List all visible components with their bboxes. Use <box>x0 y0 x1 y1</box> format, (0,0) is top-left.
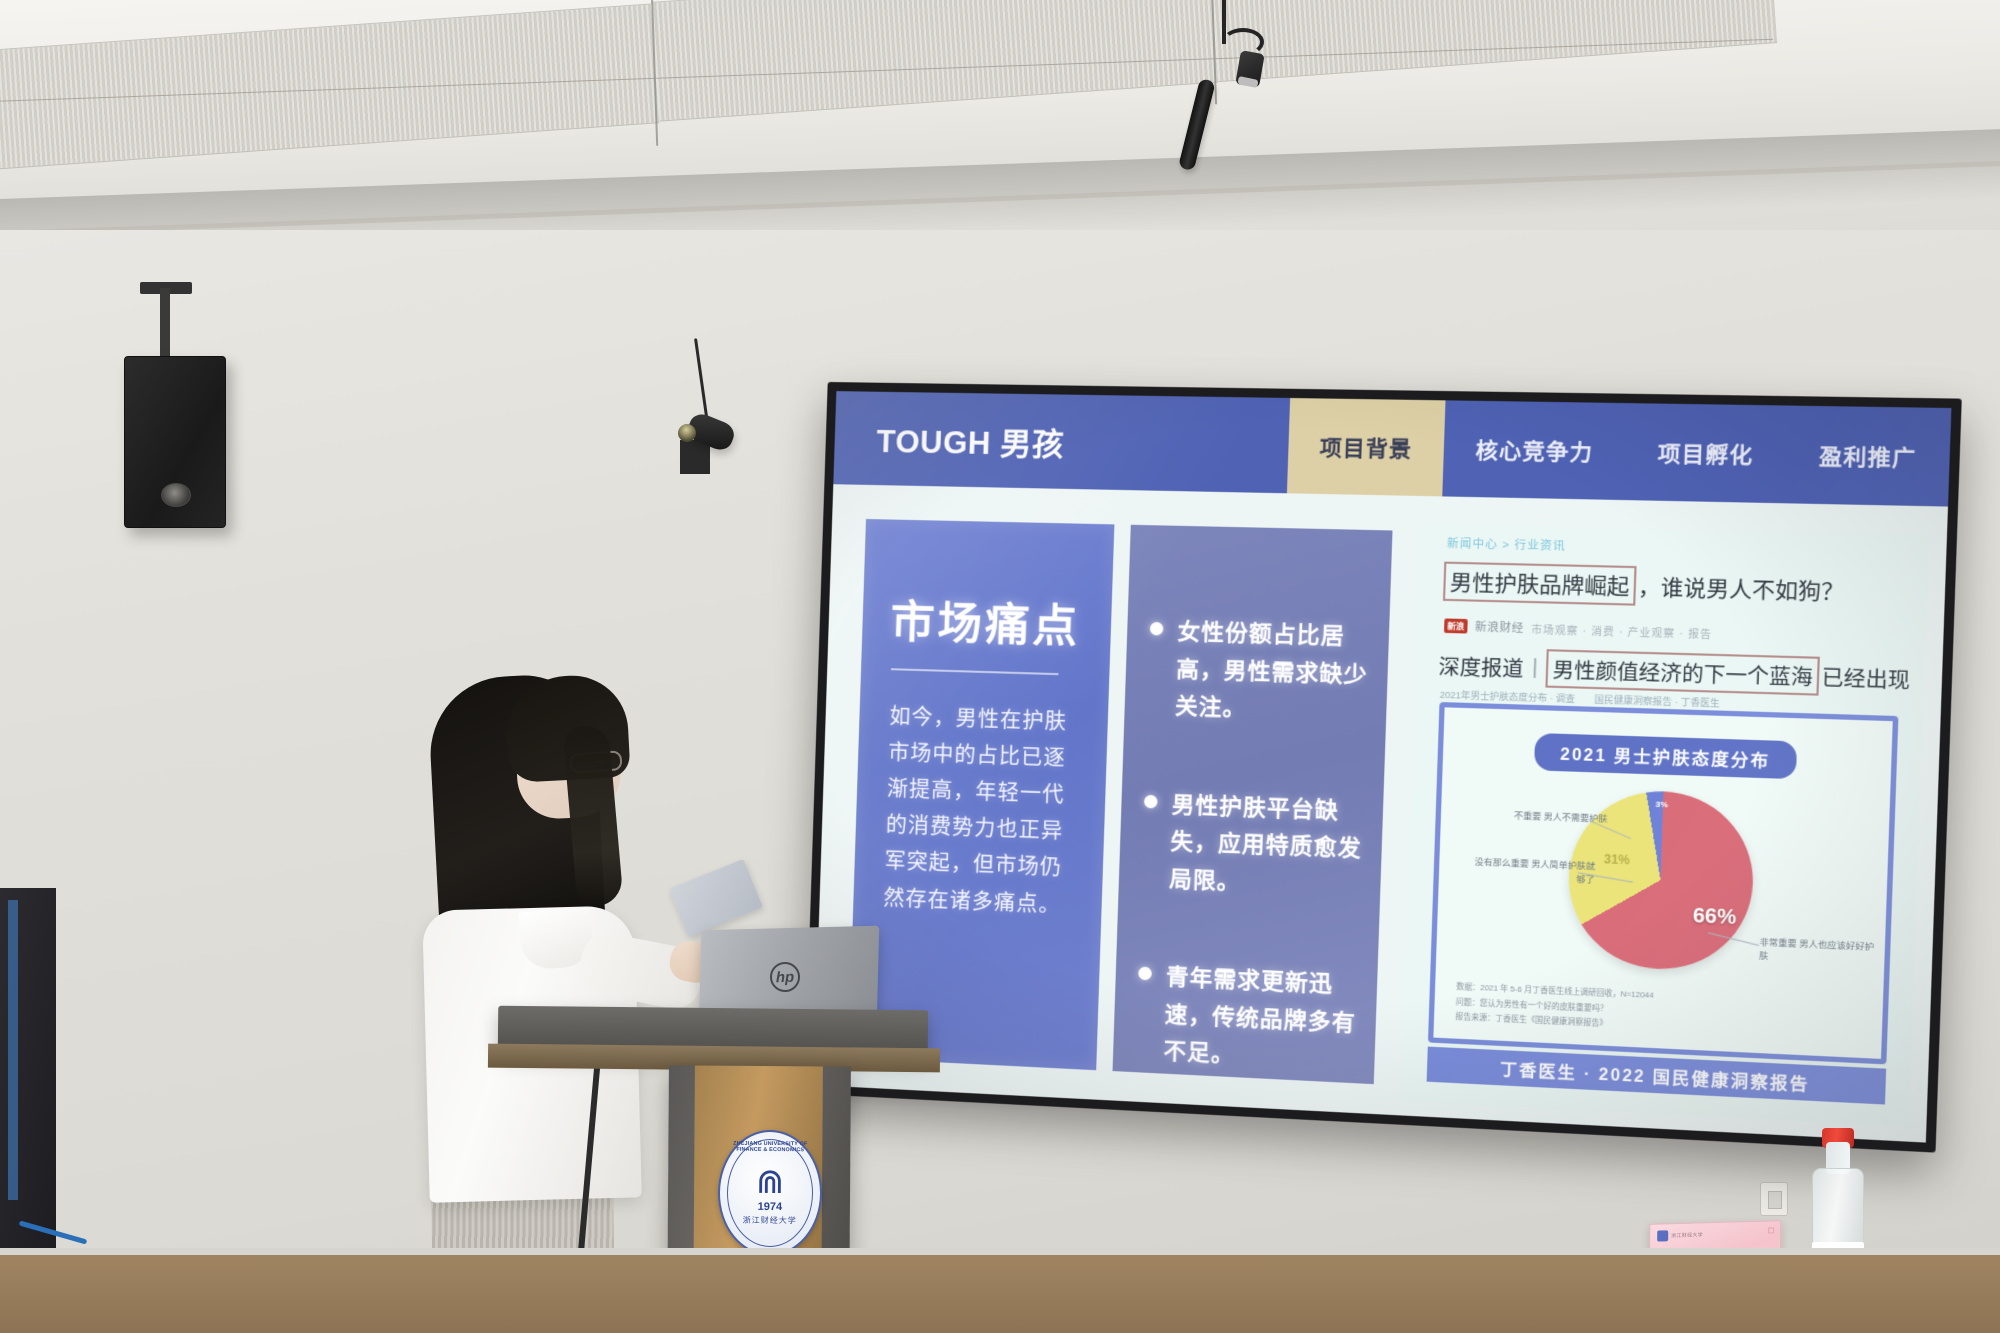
lecture-hall-photo: TOUGH 男孩 项目背景 核心竞争力 项目孵化 盈利推广 市场痛点 如今，男性… <box>0 0 2000 1333</box>
pie-value-label-1: 66% <box>1692 904 1736 930</box>
bullet-text: 青年需求更新迅速，传统品牌多有不足。 <box>1163 959 1365 1080</box>
headline-2-prefix: 深度报道 <box>1438 650 1524 682</box>
wall-outlet[interactable] <box>1760 1182 1788 1216</box>
headline-2-rest: 已经出现 <box>1821 661 1910 694</box>
headline-2-divider: | <box>1532 656 1538 680</box>
news-source-logo-icon: 新浪 <box>1444 618 1468 633</box>
bullet-dot-icon <box>1150 622 1164 636</box>
pie-value-label-2: 31% <box>1604 852 1630 868</box>
news-headline-1: 男性护肤品牌崛起 ，谁说男人不如狗？ <box>1443 562 1845 611</box>
bullet-list: 女性份额占比居高，男性需求缺少关注。 男性护肤平台缺失，应用特质愈发局限。 青年… <box>1133 613 1377 1142</box>
pie-value-label-3: 3% <box>1655 800 1668 810</box>
nav-item-profit-promotion[interactable]: 盈利推广 <box>1785 406 1952 507</box>
headline-1-rest: ，谁说男人不如狗？ <box>1638 570 1845 606</box>
placard-logo-icon <box>1657 1230 1668 1241</box>
pie-annotation-1: 非常重要 男人也应该好好护肤 <box>1759 935 1883 967</box>
panel-pain-point-list: 女性份额占比居高，男性需求缺少关注。 男性护肤平台缺失，应用特质愈发局限。 青年… <box>1113 525 1393 1084</box>
floor <box>0 1255 2000 1333</box>
pie-annotation-2: 没有那么重要 男人简单护肤就够了 <box>1468 855 1595 886</box>
nav-item-project-background[interactable]: 项目背景 <box>1287 398 1446 496</box>
list-item: 女性份额占比居高，男性需求缺少关注。 <box>1147 613 1377 732</box>
placard-org-text: 浙江财经大学 <box>1671 1231 1703 1239</box>
panel-body-text: 如今，男性在护肤市场中的占比已逐渐提高，年轻一代的消费势力也正异军突起，但市场仍… <box>883 698 1072 923</box>
list-item: 男性护肤平台缺失，应用特质愈发局限。 <box>1141 785 1371 906</box>
news-source-name: 新浪财经 <box>1475 618 1525 636</box>
panel-divider <box>891 668 1058 675</box>
placard-logo: 浙江财经大学 <box>1657 1229 1703 1241</box>
slide-nav: 项目背景 核心竞争力 项目孵化 盈利推广 <box>1287 398 1952 507</box>
slide-header: TOUGH 男孩 项目背景 核心竞争力 项目孵化 盈利推广 <box>833 391 1951 506</box>
slide-brand-title: TOUGH 男孩 <box>833 391 1065 489</box>
bullet-text: 男性护肤平台缺失，应用特质愈发局限。 <box>1169 786 1371 906</box>
presentation-slide: TOUGH 男孩 项目背景 核心竞争力 项目孵化 盈利推广 市场痛点 如今，男性… <box>814 391 1952 1142</box>
chart-footnotes: 数据：2021 年 5-6 月丁香医生线上调研回收，N=12044 问题：您认为… <box>1455 980 1654 1033</box>
news-source-tags: 市场观察 · 消费 · 产业观察 · 报告 <box>1531 620 1712 640</box>
placard-corner-mark <box>1768 1227 1774 1233</box>
panel-market-pain-points: 市场痛点 如今，男性在护肤市场中的占比已逐渐提高，年轻一代的消费势力也正异军突起… <box>848 519 1114 1070</box>
wall-speaker <box>124 356 226 528</box>
headline-2-highlight: 男性颜值经济的下一个蓝海 <box>1546 649 1821 696</box>
bullet-text: 女性份额占比居高，男性需求缺少关注。 <box>1174 613 1376 731</box>
panel-news-evidence: 新闻中心 > 行业资讯 男性护肤品牌崛起 ，谁说男人不如狗？ 新浪 新浪财经 市… <box>1401 524 1930 1127</box>
headline-1-highlight: 男性护肤品牌崛起 <box>1443 562 1637 606</box>
seal-inner-ring <box>727 1139 814 1248</box>
ceiling-vent-panel <box>0 3 659 172</box>
news-source-row: 新浪 新浪财经 市场观察 · 消费 · 产业观察 · 报告 <box>1444 617 1712 641</box>
news-breadcrumb: 新闻中心 > 行业资讯 <box>1447 535 1566 554</box>
chart-card: 2021 男士护肤态度分布 66% 31% 3% 不重要 男人不需要护肤 没有那… <box>1428 702 1899 1064</box>
speaker-mount-arm <box>160 288 170 358</box>
av-rack-stripe <box>8 900 18 1200</box>
bullet-dot-icon <box>1144 794 1158 808</box>
panel-title: 市场痛点 <box>890 586 1082 656</box>
chart-title: 2021 男士护肤态度分布 <box>1534 733 1797 779</box>
seal-english-text: ZHEJIANG UNIVERSITY OF FINANCE & ECONOMI… <box>720 1141 820 1154</box>
speaker-driver-icon <box>161 483 191 507</box>
list-item: 青年需求更新迅速，传统品牌多有不足。 <box>1135 957 1365 1080</box>
nav-item-core-competence[interactable]: 核心竞争力 <box>1442 400 1627 500</box>
nav-item-project-incubation[interactable]: 项目孵化 <box>1624 403 1788 503</box>
projection-screen[interactable]: TOUGH 男孩 项目背景 核心竞争力 项目孵化 盈利推广 市场痛点 如今，男性… <box>804 382 1961 1153</box>
bullet-dot-icon <box>1138 967 1152 981</box>
university-seal: ZHEJIANG UNIVERSITY OF FINANCE & ECONOMI… <box>718 1130 823 1257</box>
